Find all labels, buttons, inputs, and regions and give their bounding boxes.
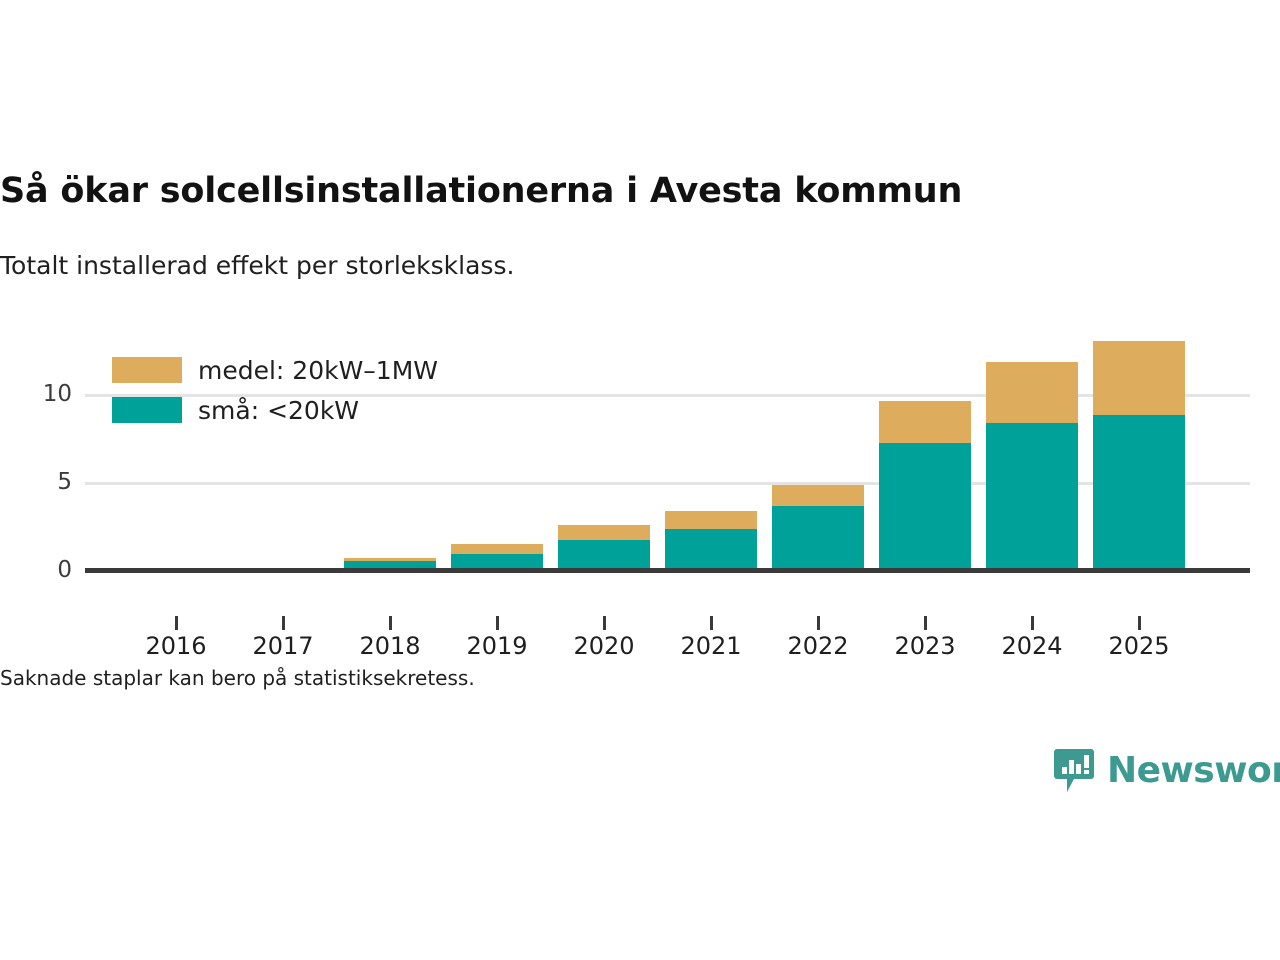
x-axis-tick-label: 2022 bbox=[758, 632, 878, 660]
x-axis-tick bbox=[710, 616, 713, 630]
legend-swatch-medium bbox=[112, 357, 182, 383]
bar-segment-medium[interactable] bbox=[1093, 341, 1185, 415]
bar-segment-medium[interactable] bbox=[558, 525, 650, 540]
bar-group[interactable] bbox=[558, 525, 650, 573]
bar-group[interactable] bbox=[665, 511, 757, 573]
chart-canvas: Så ökar solcellsinstallationerna i Avest… bbox=[0, 0, 1280, 960]
x-axis-tick bbox=[282, 616, 285, 630]
bar-group[interactable] bbox=[879, 401, 971, 573]
bar-segment-medium[interactable] bbox=[879, 401, 971, 443]
x-axis-tick-label: 2019 bbox=[437, 632, 557, 660]
x-axis-tick-label: 2020 bbox=[544, 632, 664, 660]
bar-segment-medium[interactable] bbox=[986, 362, 1078, 424]
legend-item-small[interactable]: små: <20kW bbox=[112, 390, 438, 430]
x-axis-tick-label: 2017 bbox=[223, 632, 343, 660]
chart-legend: medel: 20kW–1MWsmå: <20kW bbox=[112, 350, 438, 430]
x-axis-tick bbox=[175, 616, 178, 630]
x-axis-tick-label: 2021 bbox=[651, 632, 771, 660]
x-axis-tick bbox=[1138, 616, 1141, 630]
bar-group[interactable] bbox=[1093, 341, 1185, 573]
x-axis-tick-label: 2025 bbox=[1079, 632, 1199, 660]
logo-wordmark: Newsworthy bbox=[1107, 753, 1280, 789]
x-axis-tick-label: 2024 bbox=[972, 632, 1092, 660]
x-axis-tick-label: 2023 bbox=[865, 632, 985, 660]
bar-segment-small[interactable] bbox=[772, 506, 864, 573]
chart-subtitle: Totalt installerad effekt per storlekskl… bbox=[0, 250, 1260, 282]
bar-segment-small[interactable] bbox=[1093, 415, 1185, 573]
page-title: Så ökar solcellsinstallationerna i Avest… bbox=[0, 170, 1260, 212]
x-axis-tick bbox=[1031, 616, 1034, 630]
bar-segment-small[interactable] bbox=[879, 443, 971, 573]
bar-segment-medium[interactable] bbox=[772, 485, 864, 506]
x-axis-tick bbox=[496, 616, 499, 630]
footnote: Saknade staplar kan bero på statistiksek… bbox=[0, 665, 475, 691]
x-axis-baseline bbox=[85, 568, 1250, 573]
bar-group[interactable] bbox=[986, 362, 1078, 573]
x-axis-tick-label: 2016 bbox=[116, 632, 236, 660]
newsworthy-speech-bubble-bar-chart-icon bbox=[1053, 748, 1095, 794]
x-axis-tick-label: 2018 bbox=[330, 632, 450, 660]
x-axis-tick bbox=[817, 616, 820, 630]
x-axis-tick bbox=[924, 616, 927, 630]
bar-segment-small[interactable] bbox=[665, 529, 757, 573]
bar-segment-medium[interactable] bbox=[451, 544, 543, 554]
legend-item-medium[interactable]: medel: 20kW–1MW bbox=[112, 350, 438, 390]
legend-label-small: små: <20kW bbox=[198, 396, 359, 425]
legend-swatch-small bbox=[112, 397, 182, 423]
x-axis-tick bbox=[389, 616, 392, 630]
x-axis-tick bbox=[603, 616, 606, 630]
bar-segment-medium[interactable] bbox=[665, 511, 757, 529]
newsworthy-logo: Newsworthy bbox=[1053, 748, 1280, 794]
bar-segment-small[interactable] bbox=[986, 423, 1078, 573]
legend-label-medium: medel: 20kW–1MW bbox=[198, 356, 438, 385]
bar-group[interactable] bbox=[772, 485, 864, 573]
